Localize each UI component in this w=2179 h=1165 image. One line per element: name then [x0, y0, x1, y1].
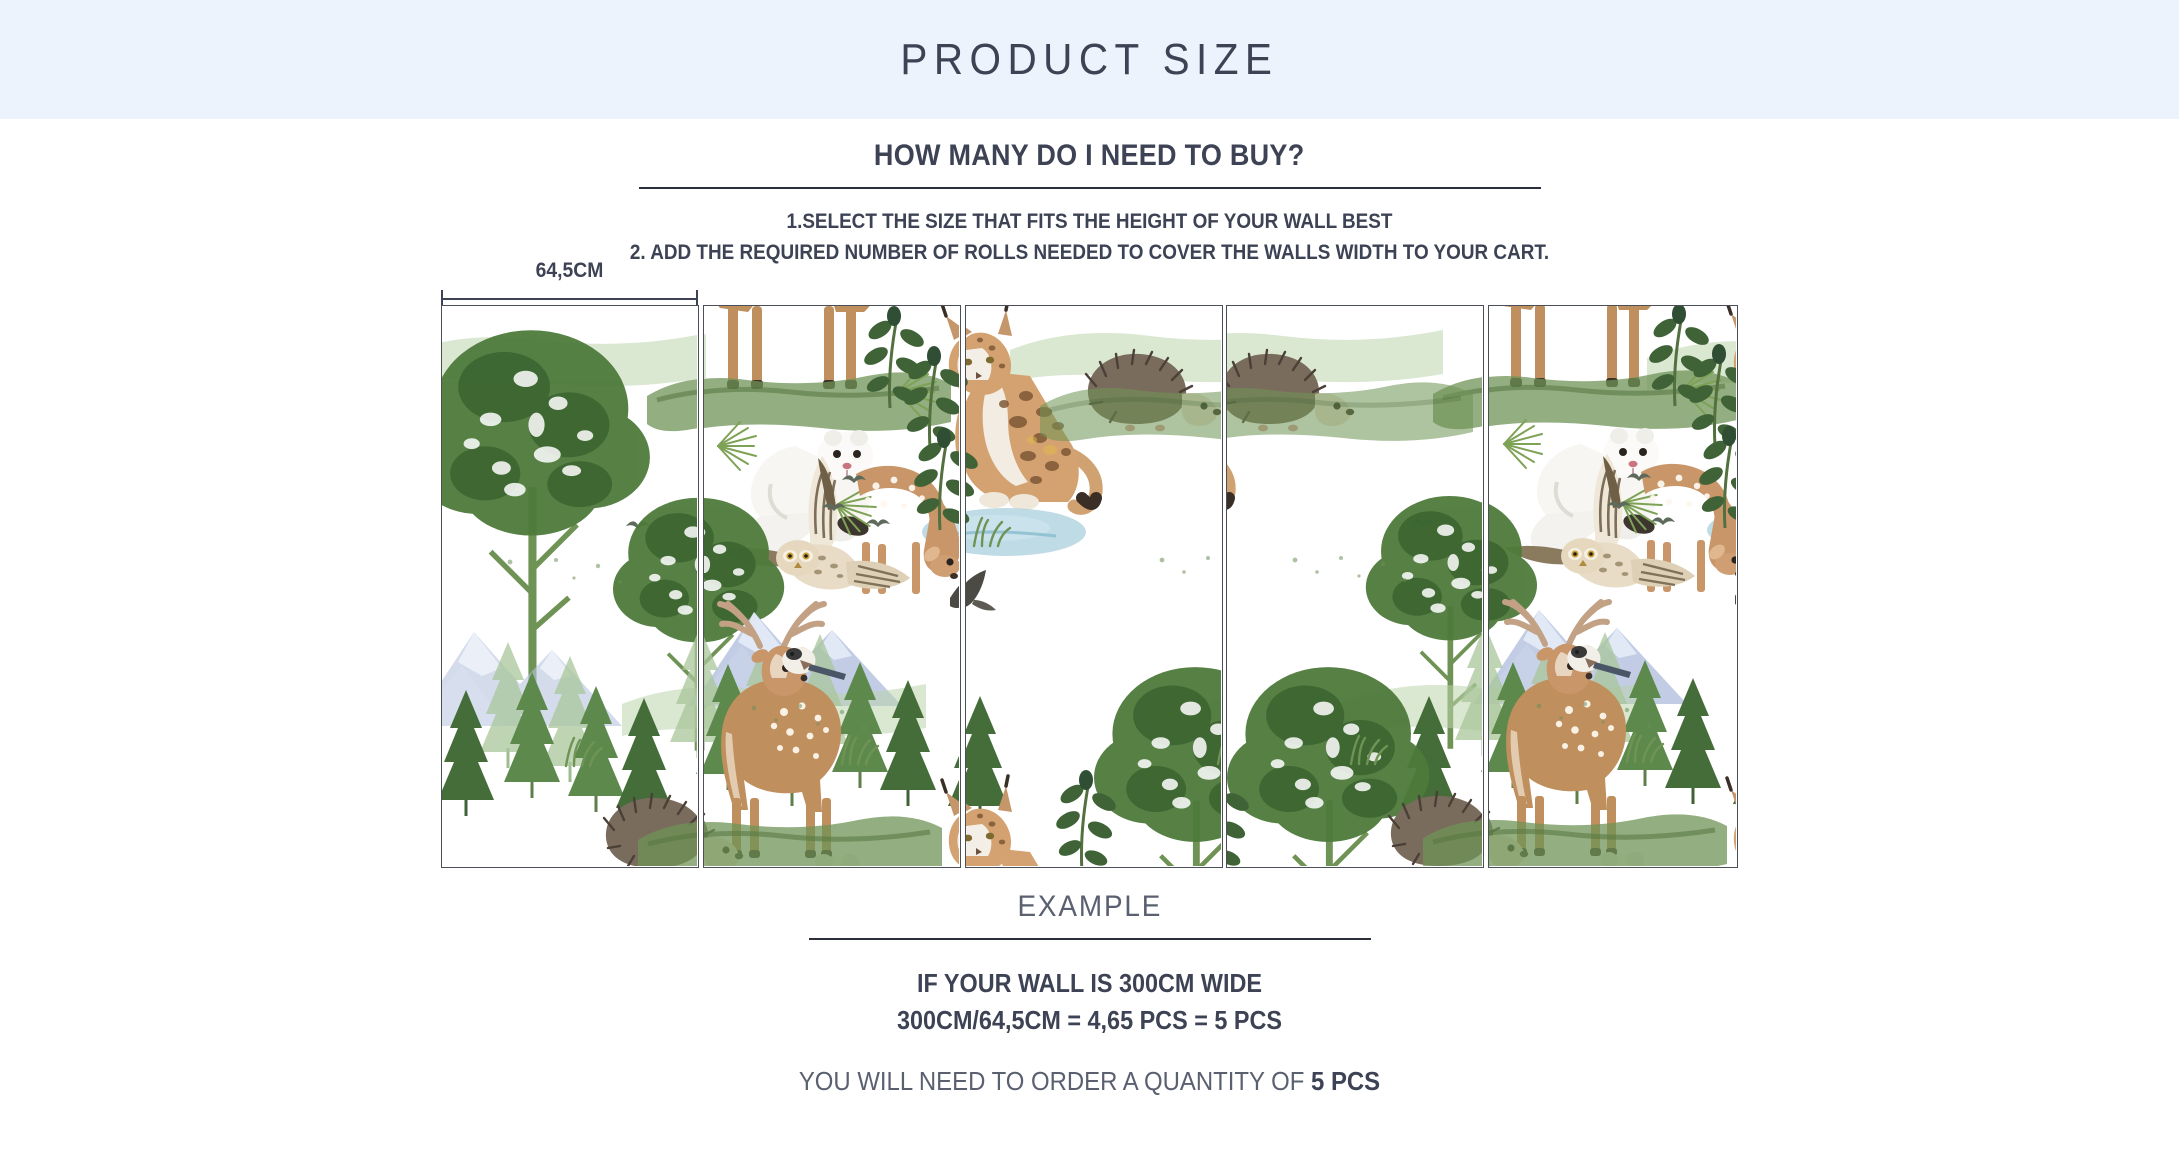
- wallpaper-panel-4[interactable]: [1226, 305, 1484, 868]
- dimension-label: 64,5CM: [451, 259, 687, 283]
- page-title: PRODUCT SIZE: [901, 35, 1279, 85]
- example-wall-width: IF YOUR WALL IS 300CM WIDE: [109, 968, 2070, 999]
- example-heading: EXAMPLE: [1017, 890, 1162, 924]
- wallpaper-panel-2[interactable]: [703, 305, 961, 868]
- wallpaper-panel-3[interactable]: [965, 305, 1223, 868]
- example-divider: [809, 938, 1371, 940]
- intro-heading: HOW MANY DO I NEED TO BUY?: [874, 139, 1305, 173]
- dimension-tick-right: [696, 290, 698, 306]
- dimension-line: [441, 298, 698, 300]
- roll-width-dimension: 64,5CM: [441, 265, 698, 305]
- example-footer-prefix: YOU WILL NEED TO ORDER A QUANTITY OF: [799, 1066, 1311, 1096]
- example-footer-value: 5 PCS: [1311, 1066, 1380, 1096]
- intro-step-2: 2. ADD THE REQUIRED NUMBER OF ROLLS NEED…: [109, 238, 2070, 269]
- intro-steps: 1.SELECT THE SIZE THAT FITS THE HEIGHT O…: [0, 207, 2179, 268]
- intro-section: HOW MANY DO I NEED TO BUY? 1.SELECT THE …: [0, 119, 2179, 268]
- dimension-tick-left: [441, 290, 443, 306]
- example-section: EXAMPLE IF YOUR WALL IS 300CM WIDE 300CM…: [0, 890, 2179, 1097]
- wallpaper-panel-5[interactable]: [1488, 305, 1738, 868]
- example-footer: YOU WILL NEED TO ORDER A QUANTITY OF 5 P…: [87, 1066, 2092, 1097]
- intro-divider: [639, 187, 1541, 189]
- wallpaper-panel-row: [0, 305, 2179, 870]
- wallpaper-panel-1[interactable]: [441, 305, 699, 868]
- page-header-band: PRODUCT SIZE: [0, 0, 2179, 119]
- example-calculation: 300CM/64,5CM = 4,65 PCS = 5 PCS: [109, 1005, 2070, 1036]
- intro-step-1: 1.SELECT THE SIZE THAT FITS THE HEIGHT O…: [109, 207, 2070, 238]
